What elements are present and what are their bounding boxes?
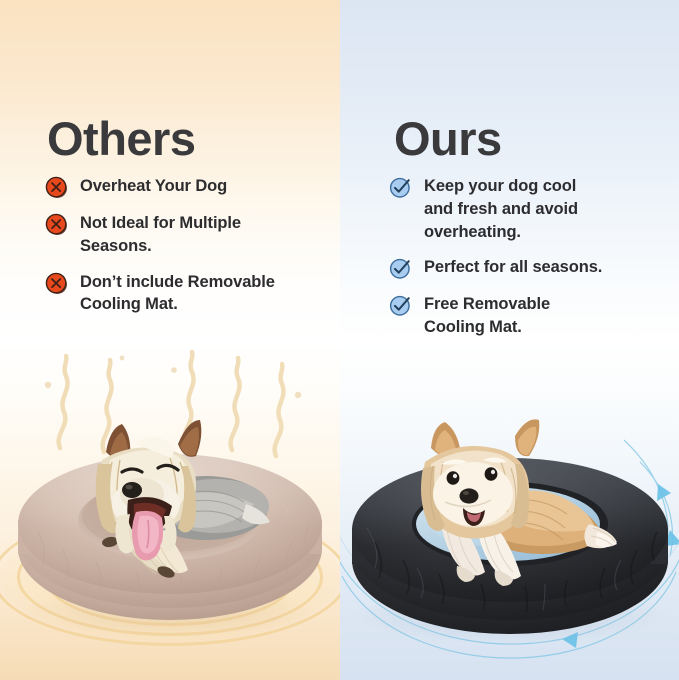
beige-donut-dog-bed	[10, 420, 330, 630]
check-circle-icon	[389, 294, 412, 317]
cross-circle-icon	[45, 176, 68, 199]
comparison-infographic: Others Overheat Your Dog	[0, 0, 679, 680]
cross-circle-icon	[45, 272, 68, 295]
list-item-label: Overheat Your Dog	[80, 175, 227, 198]
others-panel: Others Overheat Your Dog	[0, 0, 340, 680]
others-product-scene	[0, 340, 340, 680]
ours-product-scene	[340, 340, 679, 680]
others-feature-list: Overheat Your Dog Not Ideal for Multiple…	[45, 175, 330, 329]
list-item-label: Perfect for all seasons.	[424, 256, 602, 279]
list-item: Don’t include Removable Cooling Mat.	[45, 271, 330, 317]
charcoal-donut-dog-bed	[345, 420, 675, 640]
ours-feature-list: Keep your dog cool and fresh and avoid o…	[389, 175, 669, 352]
list-item: Not Ideal for Multiple Seasons.	[45, 212, 330, 258]
list-item: Free Removable Cooling Mat.	[389, 293, 669, 339]
list-item: Keep your dog cool and fresh and avoid o…	[389, 175, 669, 243]
cross-circle-icon	[45, 213, 68, 236]
ours-panel: Ours Keep your dog cool and fresh and av…	[340, 0, 679, 680]
ours-heading: Ours	[394, 115, 502, 162]
list-item-label: Not Ideal for Multiple Seasons.	[80, 212, 241, 258]
list-item-label: Keep your dog cool and fresh and avoid o…	[424, 175, 578, 243]
list-item-label: Free Removable Cooling Mat.	[424, 293, 550, 339]
list-item: Perfect for all seasons.	[389, 256, 669, 280]
list-item: Overheat Your Dog	[45, 175, 330, 199]
check-circle-icon	[389, 176, 412, 199]
list-item-label: Don’t include Removable Cooling Mat.	[80, 271, 275, 317]
check-circle-icon	[389, 257, 412, 280]
others-heading: Others	[47, 115, 196, 162]
